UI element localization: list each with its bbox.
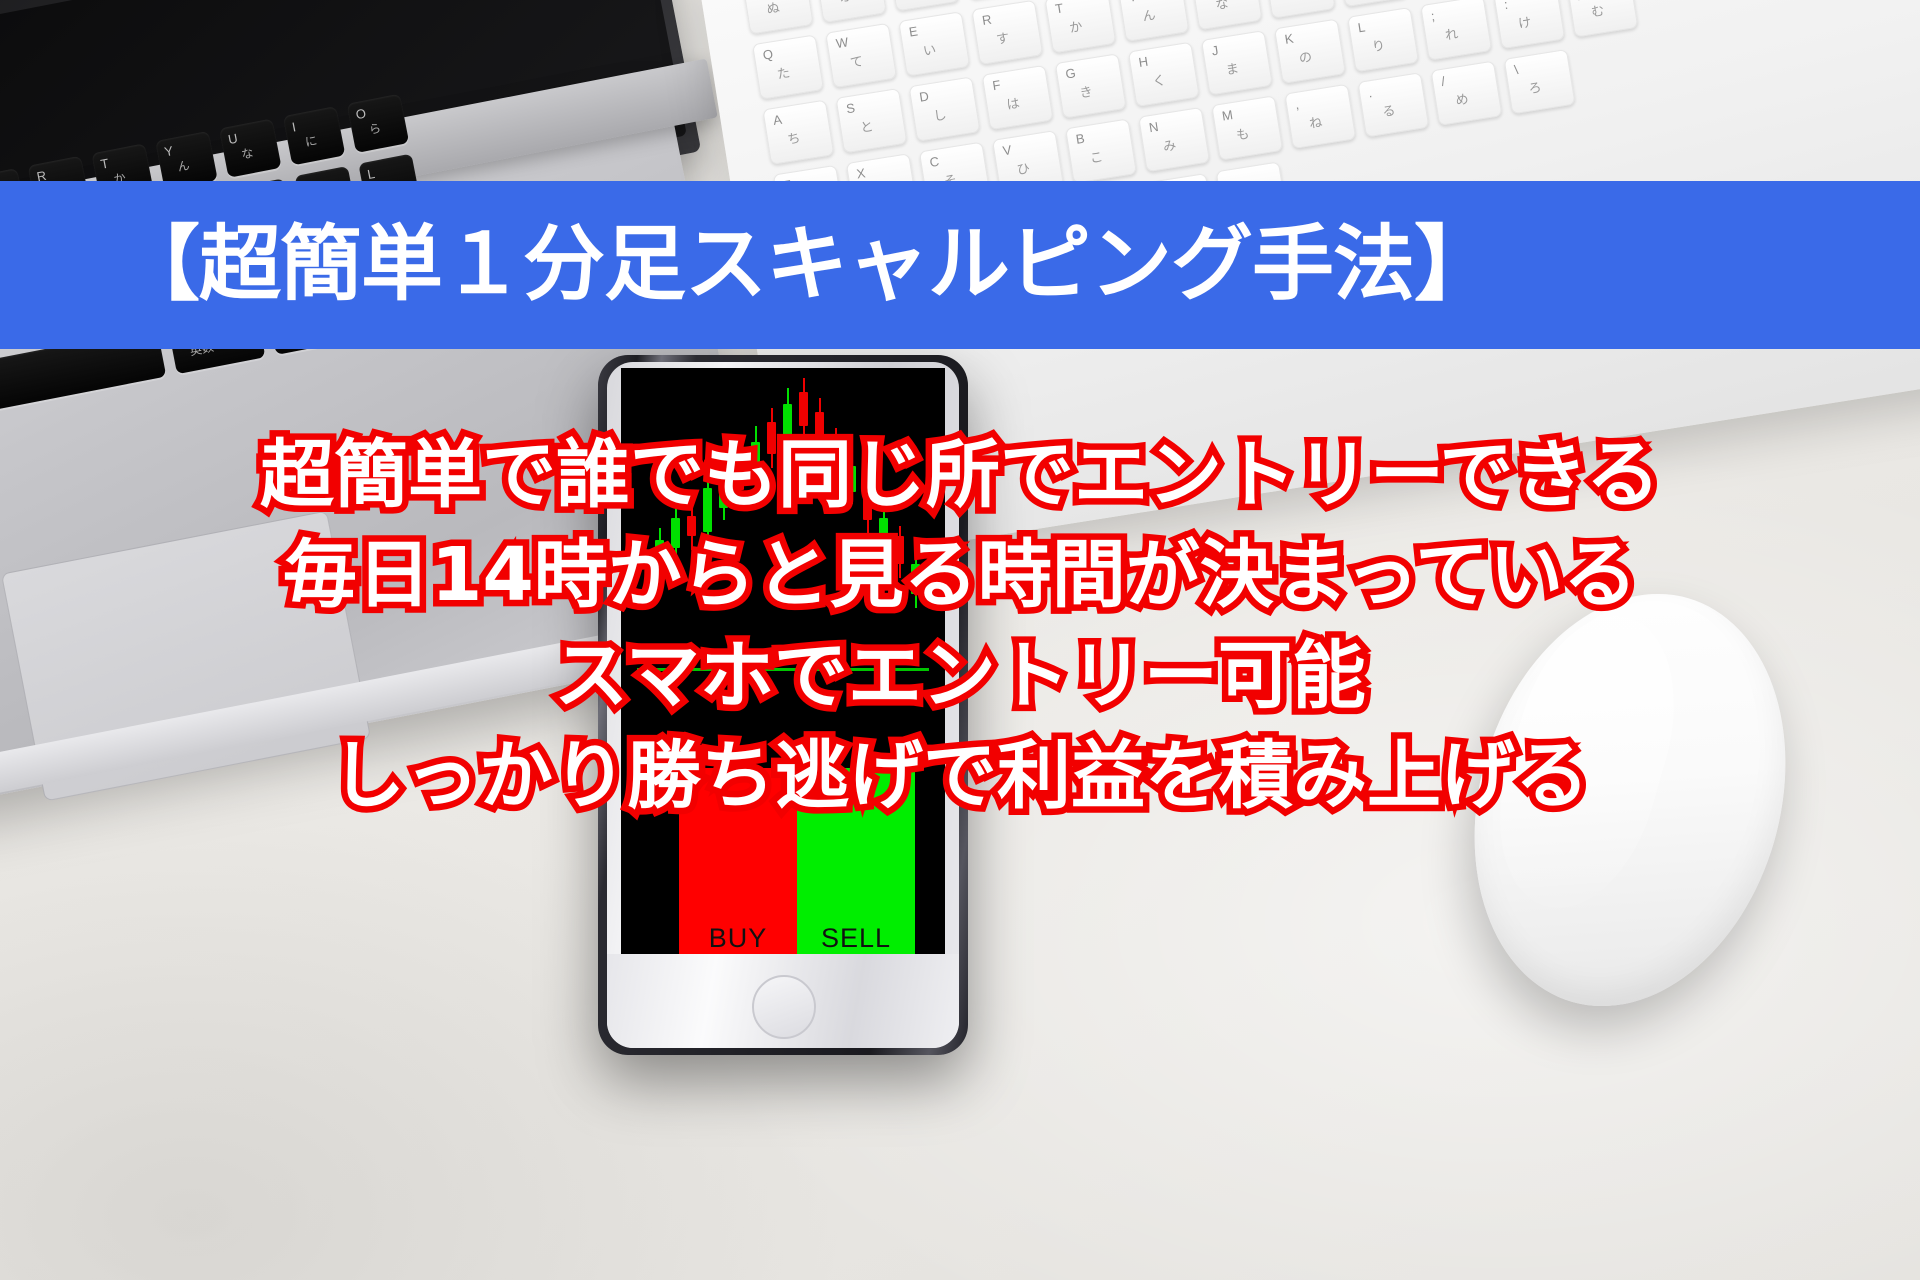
headline-line-4: しっかり勝ち逃げで利益を積み上げる xyxy=(331,731,1589,821)
page-title: 【超簡単１分足スキャルピング手法】 xyxy=(0,224,1495,306)
headline-line-1: 超簡単で誰でも同じ所でエントリーできる xyxy=(260,430,1660,520)
headline-line-3: スマホでエントリー可能 xyxy=(554,631,1366,721)
headline-line-2: 毎日14時からと見る時間が決まっている xyxy=(283,530,1637,620)
poster-canvas: QたWてEいRすTかYんUなIにOら AちSとDしFはGきHくJまKのLり Zつ… xyxy=(0,0,1920,1280)
title-banner: 【超簡単１分足スキャルピング手法】 xyxy=(0,181,1920,349)
home-button-icon[interactable] xyxy=(752,975,816,1039)
headline-list: 超簡単で誰でも同じ所でエントリーできる毎日14時からと見る時間が決まっているスマ… xyxy=(0,430,1920,821)
